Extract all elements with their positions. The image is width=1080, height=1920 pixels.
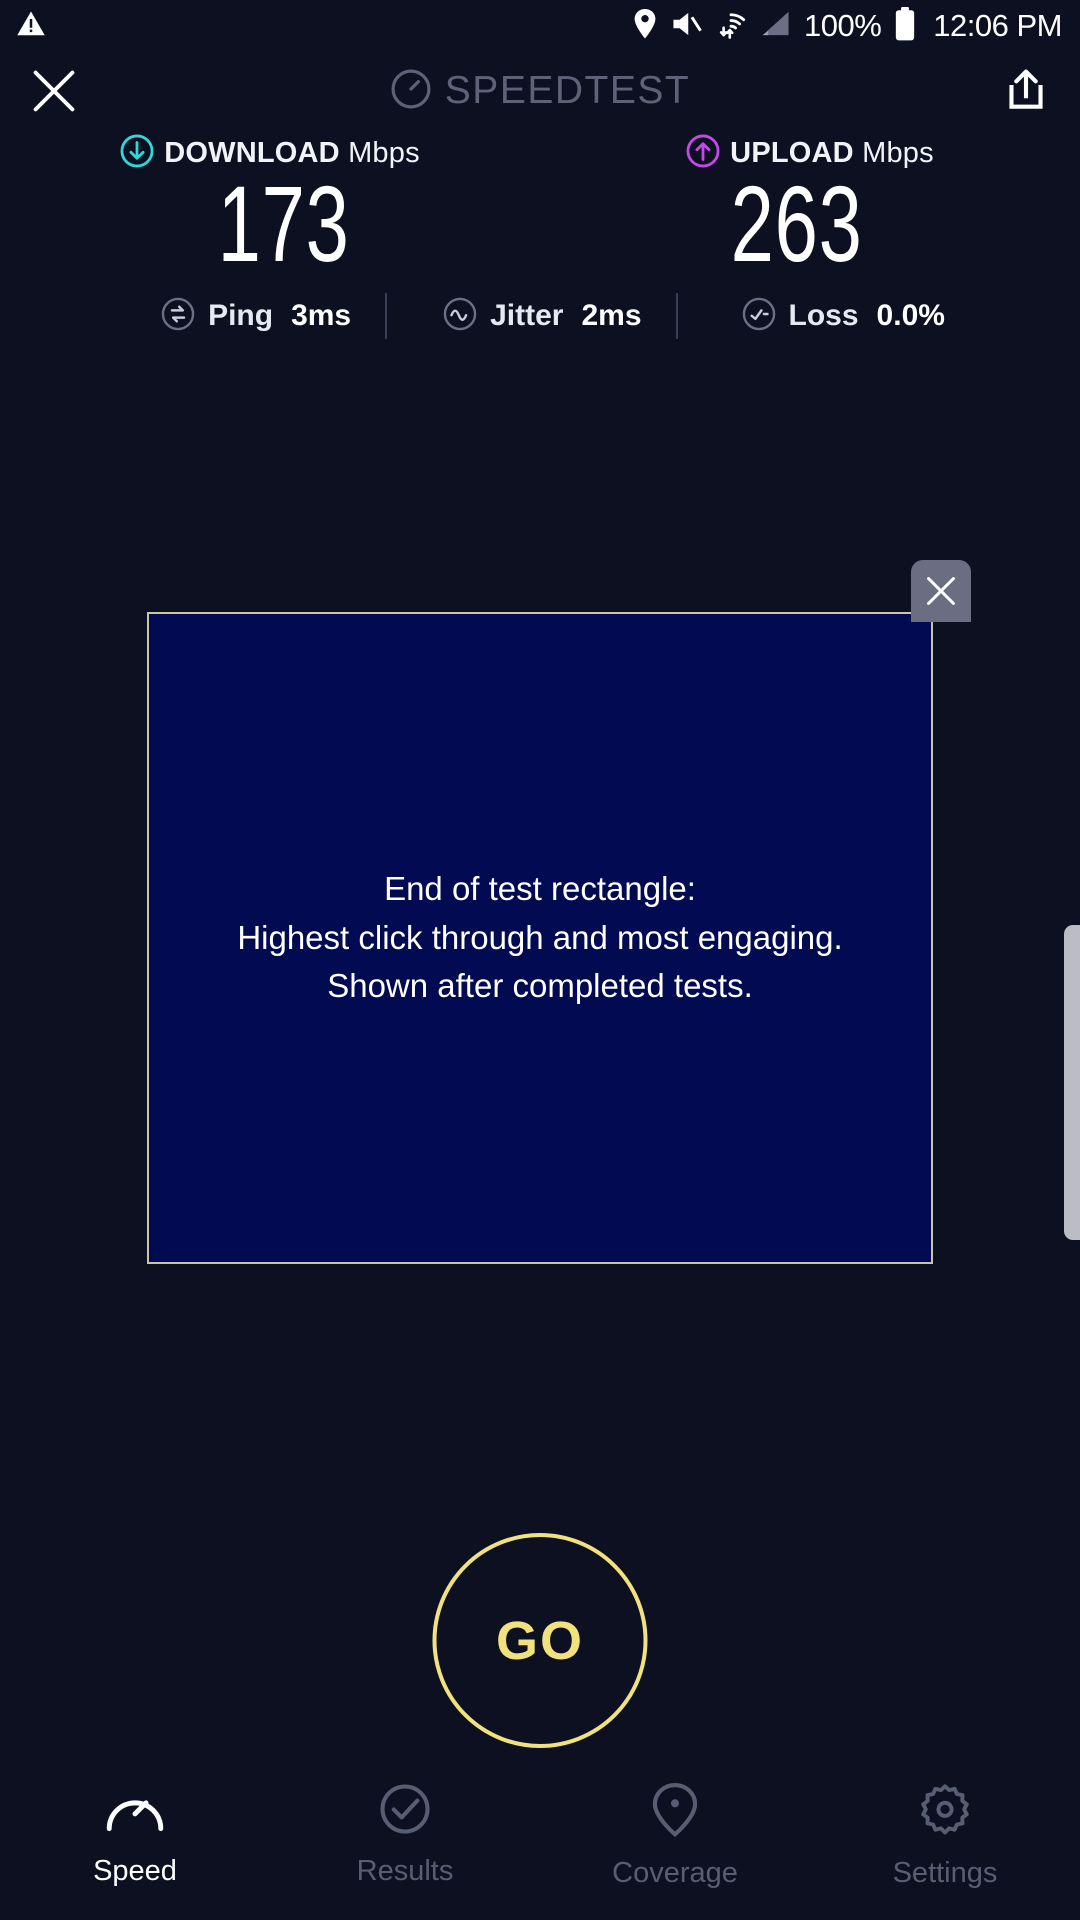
test-results: DOWNLOAD Mbps 173 UPLOAD Mbps 263 <box>0 134 1080 339</box>
ad-line-3: Shown after completed tests. <box>237 962 842 1011</box>
location-pin-icon <box>632 9 658 44</box>
metric-divider <box>385 293 387 339</box>
nav-item-speed-label: Speed <box>93 1855 177 1888</box>
metric-jitter-value: 2ms <box>581 299 641 333</box>
warning-triangle-icon <box>16 9 46 44</box>
jitter-wave-icon <box>443 297 477 336</box>
ad-line-1: End of test rectangle: <box>237 865 842 914</box>
close-button[interactable] <box>22 59 86 123</box>
metric-ping-label: Ping <box>208 299 273 333</box>
metric-jitter-label: Jitter <box>490 299 563 333</box>
map-pin-icon <box>649 1782 701 1843</box>
upload-result: UPLOAD Mbps 263 <box>540 134 1080 279</box>
brand-title: SPEEDTEST <box>445 69 690 113</box>
nav-item-results[interactable]: Results <box>270 1782 540 1888</box>
nav-item-coverage[interactable]: Coverage <box>540 1782 810 1890</box>
ad-close-button[interactable] <box>911 560 971 622</box>
speed-readouts: DOWNLOAD Mbps 173 UPLOAD Mbps 263 <box>0 134 1080 279</box>
status-bar-clock: 12:06 PM <box>933 8 1062 44</box>
metric-ping: Ping 3ms <box>161 297 351 336</box>
advertisement-banner[interactable]: End of test rectangle: Highest click thr… <box>147 612 933 1264</box>
upload-arrow-icon <box>686 134 720 173</box>
nav-item-settings[interactable]: Settings <box>810 1782 1080 1890</box>
wifi-transfer-icon <box>716 8 746 45</box>
nav-item-settings-label: Settings <box>893 1857 998 1890</box>
gear-icon <box>916 1782 974 1843</box>
loss-dash-icon <box>742 297 776 336</box>
speedtest-app-screen: 100% 12:06 PM SPEEDTEST <box>0 0 1080 1920</box>
metric-divider <box>676 293 678 339</box>
bottom-navigation: Speed Results Coverage <box>0 1770 1080 1920</box>
go-button[interactable]: GO <box>433 1533 648 1748</box>
metric-loss-value: 0.0% <box>877 299 945 333</box>
ad-line-2: Highest click through and most engaging. <box>237 914 842 963</box>
nav-item-results-label: Results <box>357 1855 454 1888</box>
cell-signal-icon <box>759 9 791 44</box>
status-bar: 100% 12:06 PM <box>0 0 1080 52</box>
app-header: SPEEDTEST <box>0 52 1080 130</box>
share-button[interactable] <box>994 59 1058 123</box>
metric-ping-value: 3ms <box>291 299 351 333</box>
metric-loss-label: Loss <box>789 299 859 333</box>
speedometer-icon <box>104 1782 166 1841</box>
volume-muted-icon <box>671 9 703 44</box>
status-bar-right: 100% 12:06 PM <box>632 7 1062 46</box>
upload-value: 263 <box>731 169 863 279</box>
network-metrics: Ping 3ms Jitter 2ms <box>0 293 1080 339</box>
download-result: DOWNLOAD Mbps 173 <box>0 134 540 279</box>
download-arrow-icon <box>120 134 154 173</box>
brand-logo: SPEEDTEST <box>0 52 1080 130</box>
battery-percent-label: 100% <box>804 8 881 44</box>
page-scrollbar[interactable] <box>1064 925 1080 1240</box>
nav-item-coverage-label: Coverage <box>612 1857 738 1890</box>
check-circle-icon <box>375 1782 435 1841</box>
advertisement-text: End of test rectangle: Highest click thr… <box>237 865 842 1011</box>
nav-item-speed[interactable]: Speed <box>0 1782 270 1888</box>
metric-jitter: Jitter 2ms <box>443 297 641 336</box>
go-button-label: GO <box>496 1610 584 1672</box>
metric-loss: Loss 0.0% <box>742 297 945 336</box>
status-bar-left <box>16 9 46 44</box>
battery-full-icon <box>894 7 916 46</box>
advertisement-container: End of test rectangle: Highest click thr… <box>147 612 933 1264</box>
speedometer-icon <box>390 68 432 115</box>
ping-exchange-icon <box>161 297 195 336</box>
download-value: 173 <box>218 169 350 279</box>
